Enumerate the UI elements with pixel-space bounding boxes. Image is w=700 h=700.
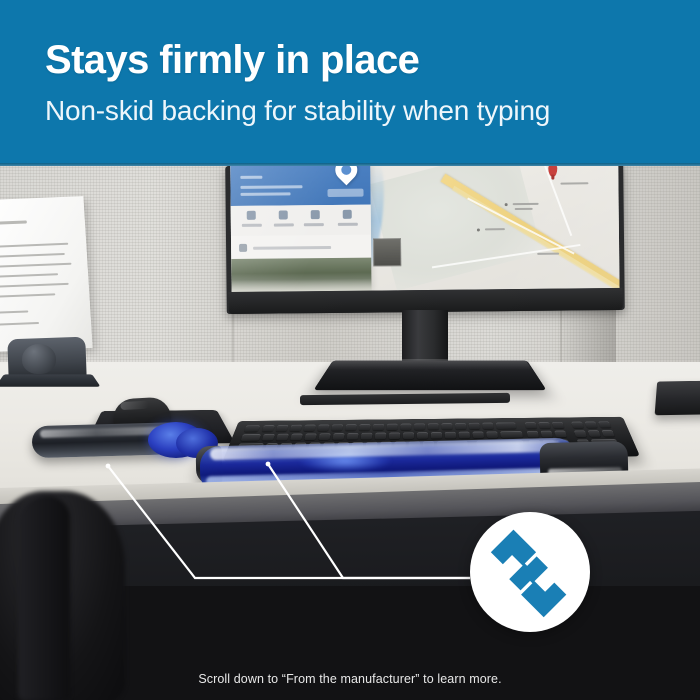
page-subtitle: Non-skid backing for stability when typi… <box>45 95 550 127</box>
footer-caption: Scroll down to “From the manufacturer” t… <box>0 672 700 686</box>
feature-badge <box>470 512 590 632</box>
header-banner: Stays firmly in place Non-skid backing f… <box>0 0 700 166</box>
two-diagonal-arrows-icon <box>484 526 576 618</box>
map-panel-button[interactable] <box>327 189 363 197</box>
office-chair-post <box>18 496 70 700</box>
map-action-row <box>231 205 371 236</box>
copy-holder-base <box>0 374 101 386</box>
phone-icon <box>239 244 247 252</box>
desk-box <box>655 381 700 416</box>
page-title: Stays firmly in place <box>45 38 419 83</box>
monitor <box>226 166 624 320</box>
map-info-panel <box>230 166 371 292</box>
monitor-screen <box>230 166 619 292</box>
copy-holder-clip <box>22 344 56 374</box>
document-sheet <box>0 196 93 352</box>
monitor-neck <box>402 310 448 362</box>
product-photo <box>0 166 700 700</box>
map-thumbnail <box>373 238 401 266</box>
monitor-base-shine <box>327 359 532 370</box>
product-feature-image: Stays firmly in place Non-skid backing f… <box>0 0 700 700</box>
map-panel-photo <box>231 258 371 292</box>
monitor-bezel <box>225 166 625 314</box>
